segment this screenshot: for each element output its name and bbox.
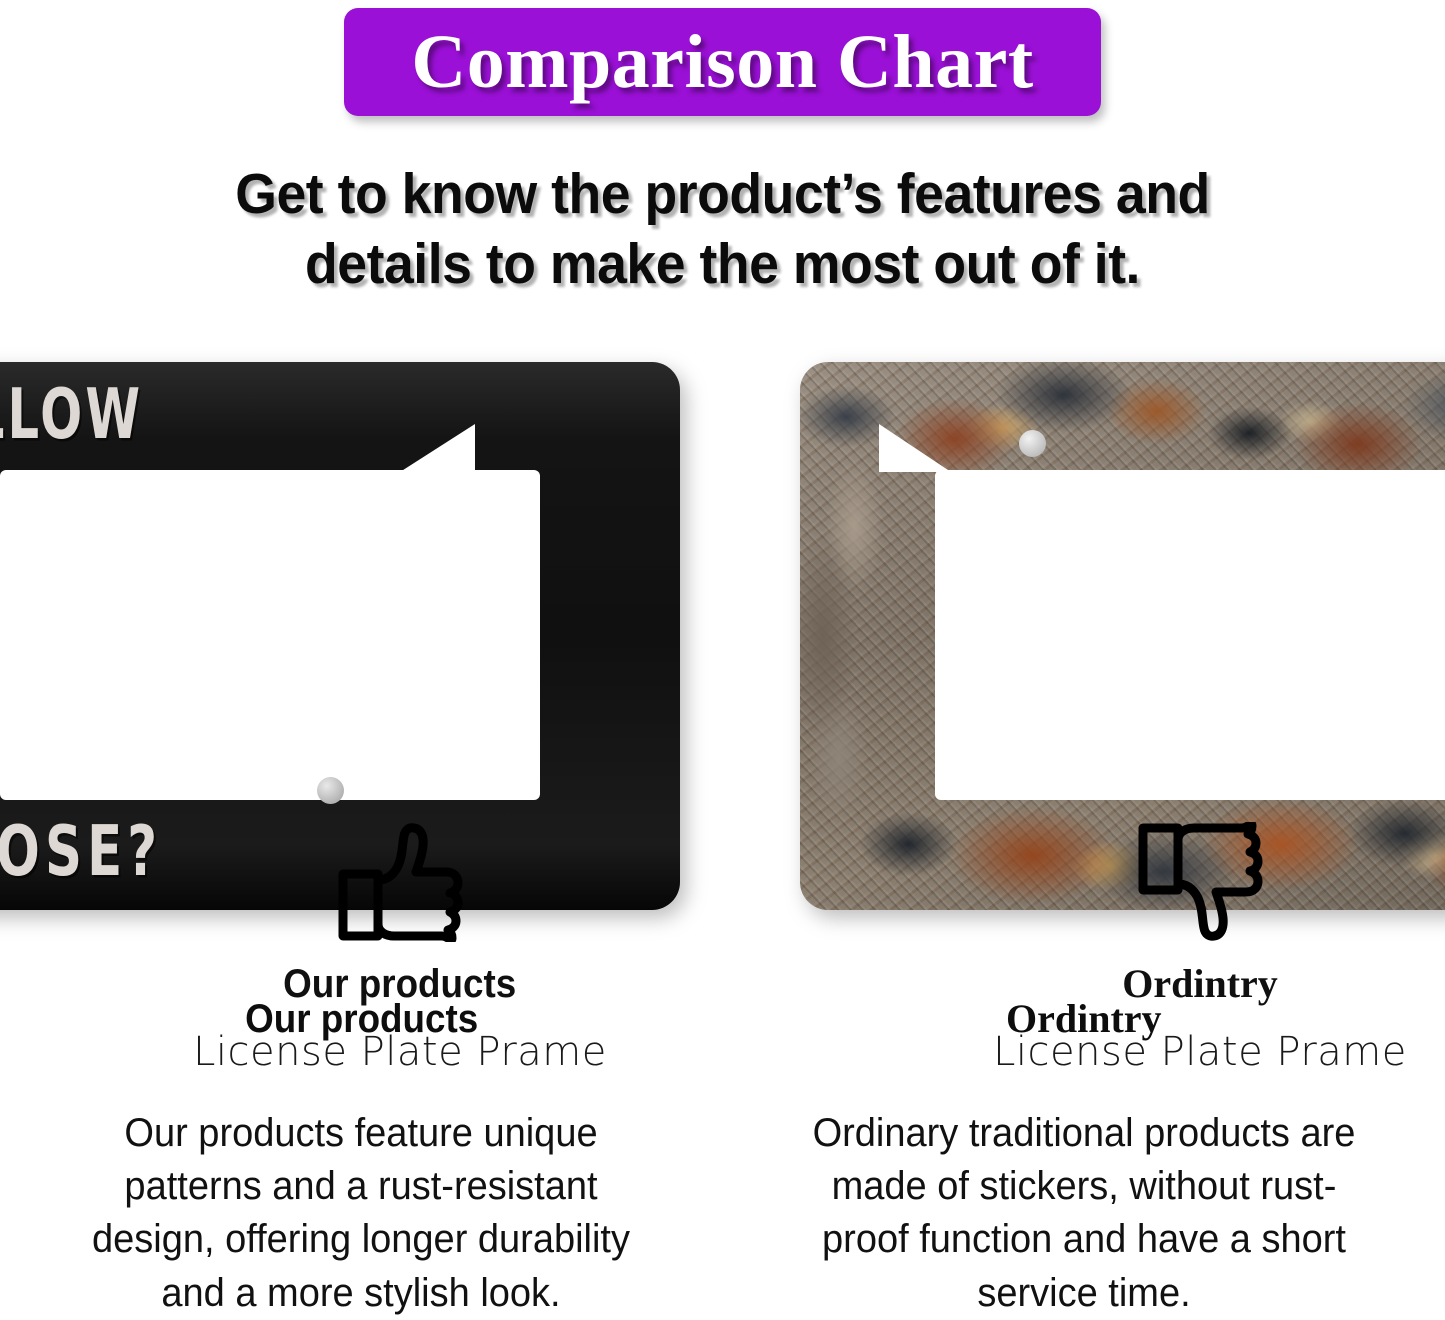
left-window-content: Our products License Plate Prame: [140, 822, 660, 1072]
subtitle-line-2: details to make the most out of it.: [43, 230, 1401, 300]
screw-hole-icon: [317, 777, 344, 804]
left-frame-chamfer: [400, 424, 475, 472]
subtitle: Get to know the product’s features and d…: [43, 160, 1401, 299]
right-frame-chamfer: [879, 424, 951, 472]
right-frame-window: [935, 470, 1445, 800]
left-product-type: License Plate Prame: [193, 1032, 607, 1072]
right-brand-name: Ordintry: [1122, 964, 1278, 1004]
product-comparison-images: YOU FOLLOW THIS CLOSE? Our products Lice…: [0, 352, 1445, 922]
left-brand-name: Our products: [283, 964, 516, 1004]
screw-hole-icon: [1019, 430, 1046, 457]
thumbs-up-icon: [336, 822, 464, 942]
left-description-text: Our products feature unique patterns and…: [67, 1107, 656, 1320]
subtitle-line-1: Get to know the product’s features and: [43, 160, 1401, 230]
right-description-text: Ordinary traditional products are made o…: [794, 1107, 1374, 1320]
left-frame-window: [0, 470, 540, 800]
frame-top-slogan: YOU FOLLOW: [0, 374, 316, 455]
comparison-chart-banner: Comparison Chart: [344, 8, 1101, 116]
page-title: Comparison Chart: [411, 24, 1033, 100]
right-product-type: License Plate Prame: [993, 1032, 1407, 1072]
thumbs-down-icon: [1136, 822, 1264, 942]
right-window-content: Ordintry License Plate Prame: [940, 822, 1445, 1072]
